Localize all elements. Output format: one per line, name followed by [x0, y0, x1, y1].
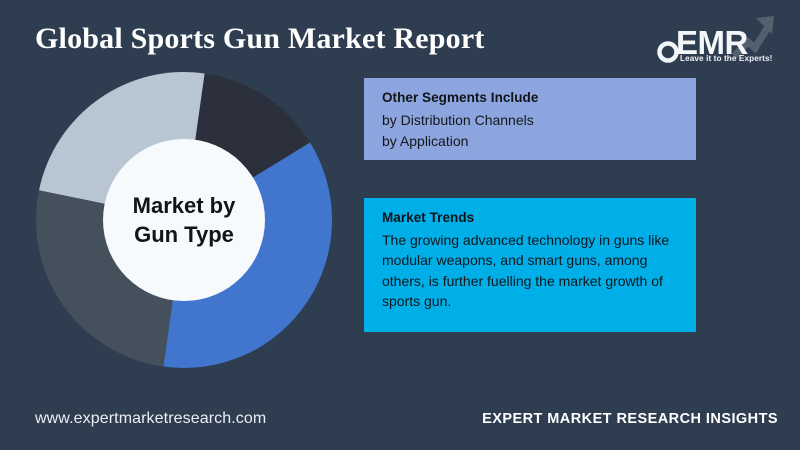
emr-logo: EMR Leave it to the Experts!: [656, 12, 778, 66]
market-trends-heading: Market Trends: [382, 210, 680, 225]
ring-icon: [660, 44, 677, 61]
other-segments-item-0: by Distribution Channels: [382, 110, 680, 131]
page-title: Global Sports Gun Market Report: [35, 22, 485, 56]
market-by-gun-type-donut-chart: Market by Gun Type: [36, 72, 332, 368]
market-trends-panel: Market Trends The growing advanced techn…: [364, 198, 696, 332]
footer-brand-label: EXPERT MARKET RESEARCH INSIGHTS: [482, 411, 778, 427]
other-segments-item-1: by Application: [382, 131, 680, 152]
market-trends-body: The growing advanced technology in guns …: [382, 230, 680, 311]
footer-website-url[interactable]: www.expertmarketresearch.com: [35, 410, 266, 428]
other-segments-panel: Other Segments Include by Distribution C…: [364, 78, 696, 160]
svg-text:Leave it to the Experts!: Leave it to the Experts!: [680, 54, 773, 63]
other-segments-heading: Other Segments Include: [382, 90, 680, 105]
